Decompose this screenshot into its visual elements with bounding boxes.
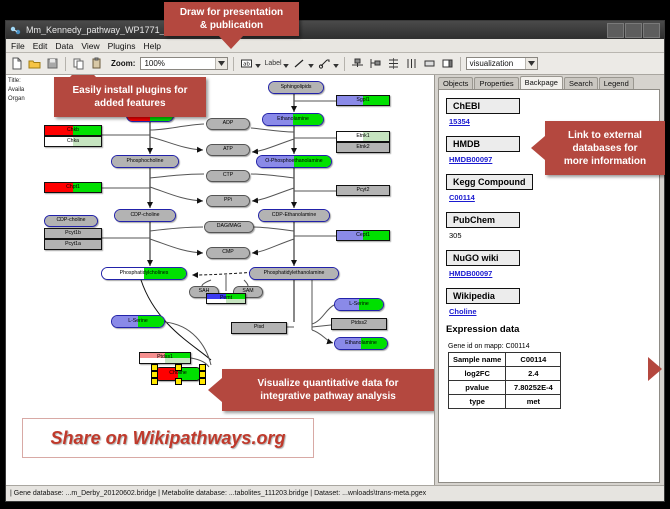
- node-label: Phosphatidylcholines: [120, 271, 169, 276]
- status-bar: | Gene database: ...m_Derby_20120602.bri…: [6, 485, 664, 501]
- selection-handle[interactable]: [151, 378, 158, 385]
- toolbar-separator: [460, 57, 461, 71]
- node-label: Etnk2: [356, 145, 369, 150]
- selection-handle[interactable]: [151, 371, 158, 378]
- toolbar: Zoom: 100% ab Label: [6, 53, 664, 75]
- metabolite-node-ethanolamine[interactable]: Ethanolamine: [262, 113, 324, 126]
- node-label: SAH: [199, 289, 210, 294]
- node-label: CDP-choline: [130, 213, 159, 218]
- node-label: CTP: [223, 173, 233, 178]
- metabolite-node-adp[interactable]: ADP: [206, 118, 250, 130]
- node-label: Phosphocholine: [127, 159, 164, 164]
- metabolite-node-phosphatidylcholines[interactable]: Phosphatidylcholines: [101, 267, 187, 280]
- backpage-header-chebi: ChEBI: [446, 98, 520, 114]
- status-text: | Gene database: ...m_Derby_20120602.bri…: [10, 490, 426, 497]
- backpage-link-kegg-compound[interactable]: C00114: [449, 193, 652, 202]
- gene-node-pcyt1b[interactable]: Pcyt1b: [44, 228, 102, 239]
- title-bar: Mm_Kennedy_pathway_WP1771_45176.gpml: [6, 21, 664, 39]
- node-label: L-Serine: [349, 302, 369, 307]
- expression-data-title: Expression data: [446, 324, 652, 335]
- node-label: Etnk1: [356, 134, 369, 139]
- gene-node-chka[interactable]: Chka: [44, 136, 102, 147]
- gene-node-chkb[interactable]: Chkb: [44, 125, 102, 136]
- node-label: Chpt1: [66, 185, 80, 190]
- visualize-callout-arrow-icon: [208, 378, 222, 402]
- zoom-label: Zoom:: [111, 59, 135, 68]
- datanode-icon[interactable]: ab: [239, 56, 254, 71]
- anchor-icon[interactable]: [317, 56, 332, 71]
- chevron-down-icon[interactable]: [283, 55, 289, 73]
- selection-handle[interactable]: [199, 371, 206, 378]
- node-label: L-Serine: [128, 319, 148, 324]
- gene-node-pemt[interactable]: Pemt: [206, 293, 246, 304]
- tab-search[interactable]: Search: [564, 77, 598, 89]
- link-callout: Link to external databases for more info…: [545, 121, 665, 175]
- node-label: CDP-choline: [56, 218, 85, 223]
- node-label: Pcyt1a: [65, 242, 81, 247]
- new-file-icon[interactable]: [9, 56, 24, 71]
- link-callout-arrow-icon: [531, 136, 545, 160]
- menu-view[interactable]: View: [81, 41, 99, 51]
- tab-objects[interactable]: Objects: [438, 77, 473, 89]
- canvas-info-organism: Organ: [8, 95, 25, 104]
- menu-plugins[interactable]: Plugins: [108, 41, 136, 51]
- metabolite-node-o-phosphoethanolamine[interactable]: O-Phosphoethanolamine: [256, 155, 332, 168]
- visualization-value: visualization: [470, 59, 514, 68]
- metabolite-node-sphingolipids[interactable]: Sphingolipids: [268, 81, 324, 94]
- menu-file[interactable]: File: [11, 41, 25, 51]
- anchor-tool[interactable]: [317, 55, 339, 73]
- link-callout-line3: more information: [564, 155, 646, 168]
- metabolite-node-l-serine[interactable]: L-Serine: [334, 298, 384, 311]
- node-label: Phosphatidylethanolamine: [264, 271, 325, 276]
- metabolite-node-cdp-choline[interactable]: CDP-choline: [44, 215, 98, 227]
- backpage-header-kegg-compound: Kegg Compound: [446, 174, 533, 190]
- link-callout-line2: databases for: [572, 142, 637, 155]
- metabolite-node-ethanolamine[interactable]: Ethanolamine: [334, 337, 388, 350]
- node-label: Choline: [169, 371, 187, 376]
- backpage-link-nugo-wiki[interactable]: HMDB00097: [449, 269, 652, 278]
- metabolite-node-phosphocholine[interactable]: Phosphocholine: [111, 155, 179, 168]
- metabolite-node-ctp[interactable]: CTP: [206, 170, 250, 182]
- backpage-header-wikipedia: Wikipedia: [446, 288, 520, 304]
- gene-node-chpt1[interactable]: Chpt1: [44, 182, 102, 193]
- svg-text:ab: ab: [244, 62, 251, 68]
- gene-node-pisd[interactable]: Pisd: [231, 322, 287, 334]
- toolbar-separator: [233, 57, 234, 71]
- gene-node-sgpl1[interactable]: Sgpl1: [336, 95, 390, 106]
- chevron-down-icon[interactable]: [215, 58, 227, 69]
- gene-node-etnk2[interactable]: Etnk2: [336, 142, 390, 153]
- node-label: O-Phosphoethanolamine: [265, 159, 322, 164]
- minimize-button[interactable]: [607, 23, 624, 38]
- gene-node-ptdss1[interactable]: Ptdss1: [139, 352, 191, 364]
- table-cell-key: log2FC: [449, 367, 506, 381]
- backpage-header-pubchem: PubChem: [446, 212, 520, 228]
- selection-handle[interactable]: [199, 378, 206, 385]
- canvas-info-labels: Title: Availa Organ: [8, 77, 25, 104]
- visualization-combo[interactable]: visualization: [466, 57, 538, 70]
- line-icon[interactable]: [292, 56, 307, 71]
- tab-properties[interactable]: Properties: [474, 77, 518, 89]
- node-label: PPi: [224, 198, 232, 203]
- node-label: Ethanolamine: [277, 117, 309, 122]
- draw-callout-arrow-icon: [218, 35, 244, 49]
- paste-icon[interactable]: [89, 56, 104, 71]
- metabolite-node-phosphatidylethanolamine[interactable]: Phosphatidylethanolamine: [249, 267, 339, 280]
- node-label: SAM: [242, 289, 253, 294]
- visualize-callout-tail-icon: [648, 357, 662, 381]
- metabolite-node-ppi[interactable]: PPi: [206, 195, 250, 207]
- plugins-callout-line1: Easily install plugins for: [72, 84, 187, 97]
- table-cell-key: type: [449, 395, 506, 409]
- node-label: ADP: [223, 121, 234, 126]
- chevron-down-icon[interactable]: [525, 58, 537, 69]
- backpage-value-pubchem: 305: [449, 231, 652, 240]
- node-label: Chkb: [67, 128, 79, 133]
- gene-node-ptdss2[interactable]: Ptdss2: [331, 318, 387, 330]
- order-icon[interactable]: [440, 56, 455, 71]
- plugins-callout-line2: added features: [94, 97, 165, 110]
- canvas-info-available: Availa: [8, 86, 25, 95]
- table-cell-key: Sample name: [449, 353, 506, 367]
- table-cell-value: met: [506, 395, 561, 409]
- metabolite-node-cdp-ethanolamine[interactable]: CDP-Ethanolamine: [258, 209, 330, 222]
- visualize-callout: Visualize quantitative data for integrat…: [222, 369, 434, 411]
- node-label: Pemt: [220, 296, 232, 301]
- table-cell-value: 7.80252E-4: [506, 381, 561, 395]
- share-callout-text: Share on Wikipathways.org: [51, 428, 286, 449]
- gene-node-etnk1[interactable]: Etnk1: [336, 131, 390, 142]
- window-controls[interactable]: [607, 23, 660, 38]
- draw-callout-line2: & publication: [200, 19, 263, 32]
- node-label: Ptdss2: [351, 321, 367, 326]
- node-label: Sgpl1: [356, 98, 369, 103]
- node-label: Ethanolamine: [345, 341, 377, 346]
- menu-help[interactable]: Help: [144, 41, 161, 51]
- metabolite-node-cmp[interactable]: CMP: [206, 247, 250, 259]
- menu-data[interactable]: Data: [55, 41, 73, 51]
- selection-handle[interactable]: [175, 378, 182, 385]
- backpage-header-hmdb: HMDB: [446, 136, 520, 152]
- visualize-callout-line1: Visualize quantitative data for: [258, 377, 399, 390]
- label-icon[interactable]: Label: [264, 60, 281, 67]
- side-panel-tabs[interactable]: ObjectsPropertiesBackpageSearchLegend: [435, 75, 664, 89]
- node-label: Ptdss1: [157, 355, 173, 360]
- table-cell-value: C00114: [506, 353, 561, 367]
- save-icon[interactable]: [45, 56, 60, 71]
- node-label: Sphingolipids: [281, 85, 312, 90]
- node-label: CDP-Ethanolamine: [272, 213, 316, 218]
- align-left-icon[interactable]: [368, 56, 383, 71]
- selection-handle[interactable]: [151, 364, 158, 371]
- visualize-callout-line2: integrative pathway analysis: [260, 390, 396, 403]
- gene-node-cept1[interactable]: Cept1: [336, 230, 390, 241]
- table-row: log2FC2.4: [449, 367, 561, 381]
- node-label: Pcyt1b: [65, 231, 81, 236]
- chevron-down-icon[interactable]: [308, 55, 314, 73]
- gene-id-line: Gene id on mapp: C00114: [448, 343, 652, 350]
- close-button[interactable]: [643, 23, 660, 38]
- plugins-callout-arrow-icon: [70, 75, 96, 77]
- expression-data-table: Sample nameC00114log2FC2.4pvalue7.80252E…: [448, 352, 561, 409]
- table-cell-value: 2.4: [506, 367, 561, 381]
- metabolite-node-atp[interactable]: ATP: [206, 144, 250, 156]
- gene-node-pcyt1a[interactable]: Pcyt1a: [44, 239, 102, 250]
- canvas-info-title: Title:: [8, 77, 25, 86]
- toolbar-separator: [344, 57, 345, 71]
- backpage-link-wikipedia[interactable]: Choline: [449, 307, 652, 316]
- chevron-down-icon[interactable]: [255, 55, 261, 73]
- node-label: ATP: [223, 147, 233, 152]
- node-label: Pcyt2: [357, 188, 370, 193]
- node-label: DAG/MAG: [217, 224, 242, 229]
- node-label: Cept1: [356, 233, 370, 238]
- group-icon[interactable]: [422, 56, 437, 71]
- toolbar-separator: [65, 57, 66, 71]
- gene-node-pcyt2[interactable]: Pcyt2: [336, 185, 390, 196]
- share-callout: Share on Wikipathways.org: [22, 418, 314, 458]
- tab-backpage[interactable]: Backpage: [520, 76, 563, 89]
- distribute-vertical-icon[interactable]: [386, 56, 401, 71]
- metabolite-node-l-serine[interactable]: L-Serine: [111, 315, 165, 328]
- zoom-value: 100%: [144, 59, 164, 68]
- draw-callout-line1: Draw for presentation: [180, 6, 283, 19]
- maximize-button[interactable]: [625, 23, 642, 38]
- link-callout-line1: Link to external: [568, 129, 642, 142]
- metabolite-node-cdp-choline[interactable]: CDP-choline: [114, 209, 176, 222]
- node-label: CMP: [222, 250, 234, 255]
- pathvisio-icon: [10, 25, 21, 36]
- node-label: Pisd: [254, 325, 264, 330]
- selection-handle[interactable]: [199, 364, 206, 371]
- table-row: typemet: [449, 395, 561, 409]
- zoom-combo[interactable]: 100%: [140, 57, 228, 70]
- menu-bar: File Edit Data View Plugins Help: [6, 39, 664, 53]
- plugins-callout: Easily install plugins for added feature…: [54, 77, 206, 117]
- table-row: Sample nameC00114: [449, 353, 561, 367]
- distribute-horizontal-icon[interactable]: [404, 56, 419, 71]
- node-label: Chka: [67, 139, 79, 144]
- line-tool[interactable]: [292, 55, 314, 73]
- draw-callout: Draw for presentation & publication: [164, 2, 299, 36]
- table-cell-key: pvalue: [449, 381, 506, 395]
- backpage-header-nugo-wiki: NuGO wiki: [446, 250, 520, 266]
- metabolite-node-dag-mag[interactable]: DAG/MAG: [204, 221, 254, 233]
- datanode-tool[interactable]: ab: [239, 55, 261, 73]
- open-folder-icon[interactable]: [27, 56, 42, 71]
- table-row: pvalue7.80252E-4: [449, 381, 561, 395]
- menu-edit[interactable]: Edit: [33, 41, 48, 51]
- label-tool[interactable]: Label: [264, 55, 288, 73]
- chevron-down-icon[interactable]: [333, 55, 339, 73]
- align-top-icon[interactable]: [350, 56, 365, 71]
- tab-legend[interactable]: Legend: [599, 77, 634, 89]
- copy-icon[interactable]: [71, 56, 86, 71]
